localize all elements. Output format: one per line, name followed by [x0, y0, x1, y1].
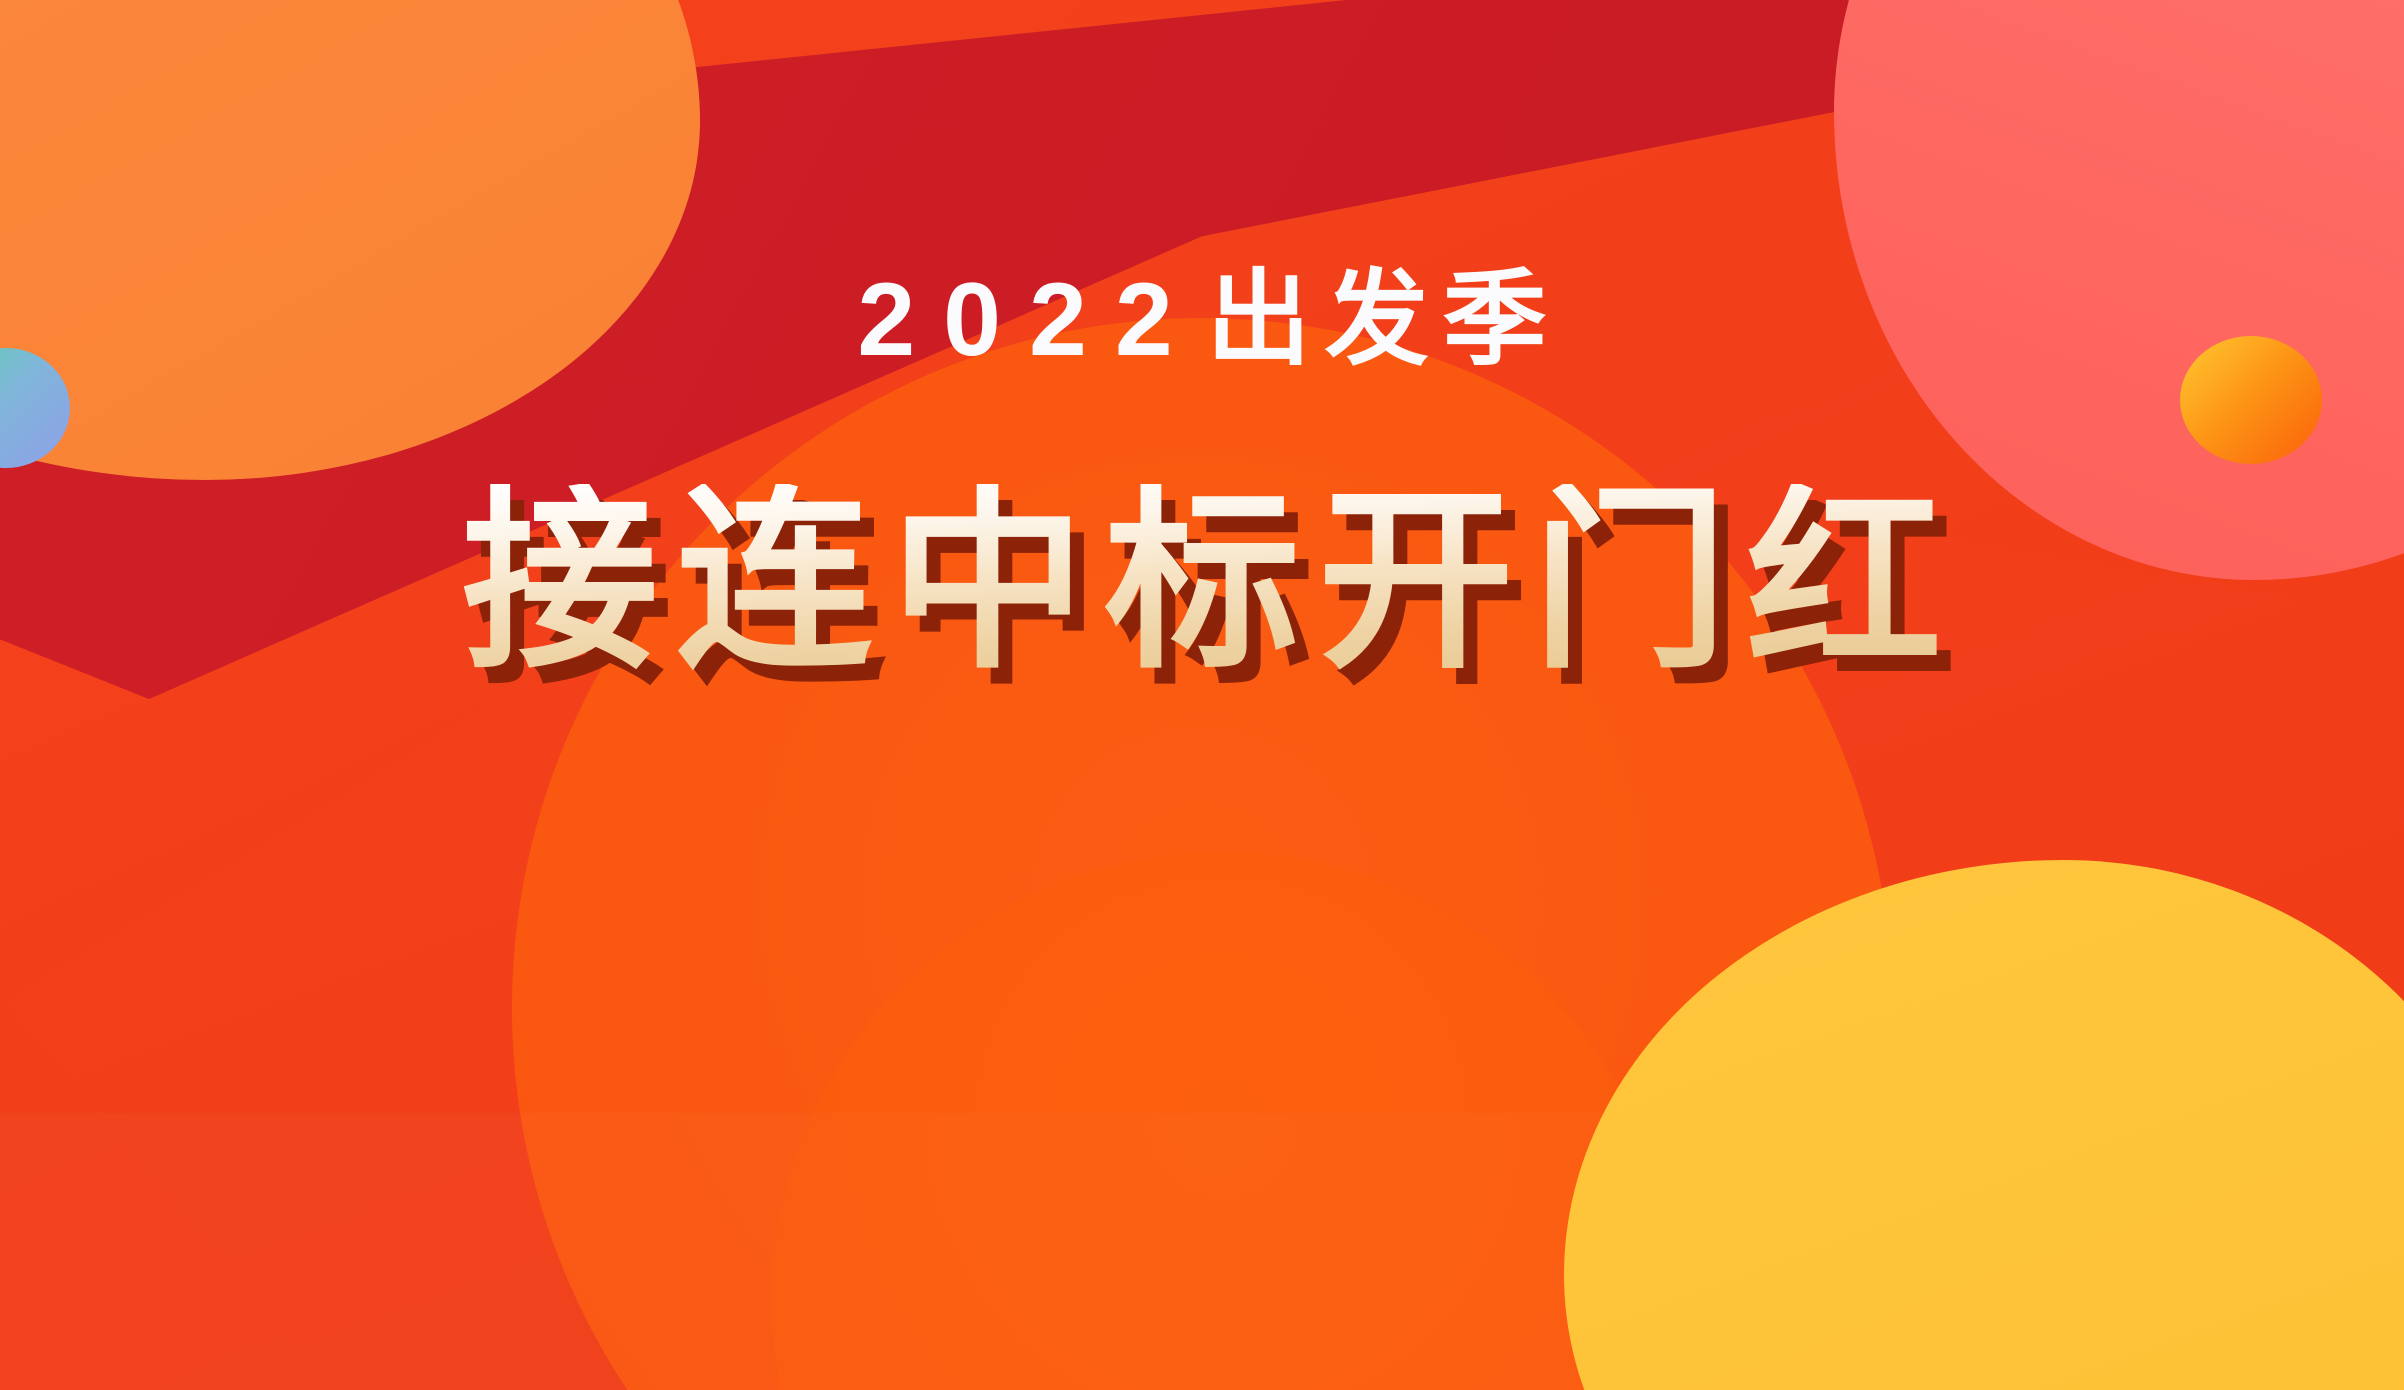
- poster-content: 2022出发季 接连中标开门红: [0, 0, 2404, 1390]
- promo-banner: 2022出发季 接连中标开门红: [0, 0, 2404, 1390]
- subtitle-year: 2022: [857, 262, 1200, 378]
- poster-headline: 接连中标开门红: [444, 484, 1960, 680]
- poster-subtitle: 2022出发季: [843, 268, 1560, 372]
- subtitle-text: 出发季: [1207, 262, 1561, 378]
